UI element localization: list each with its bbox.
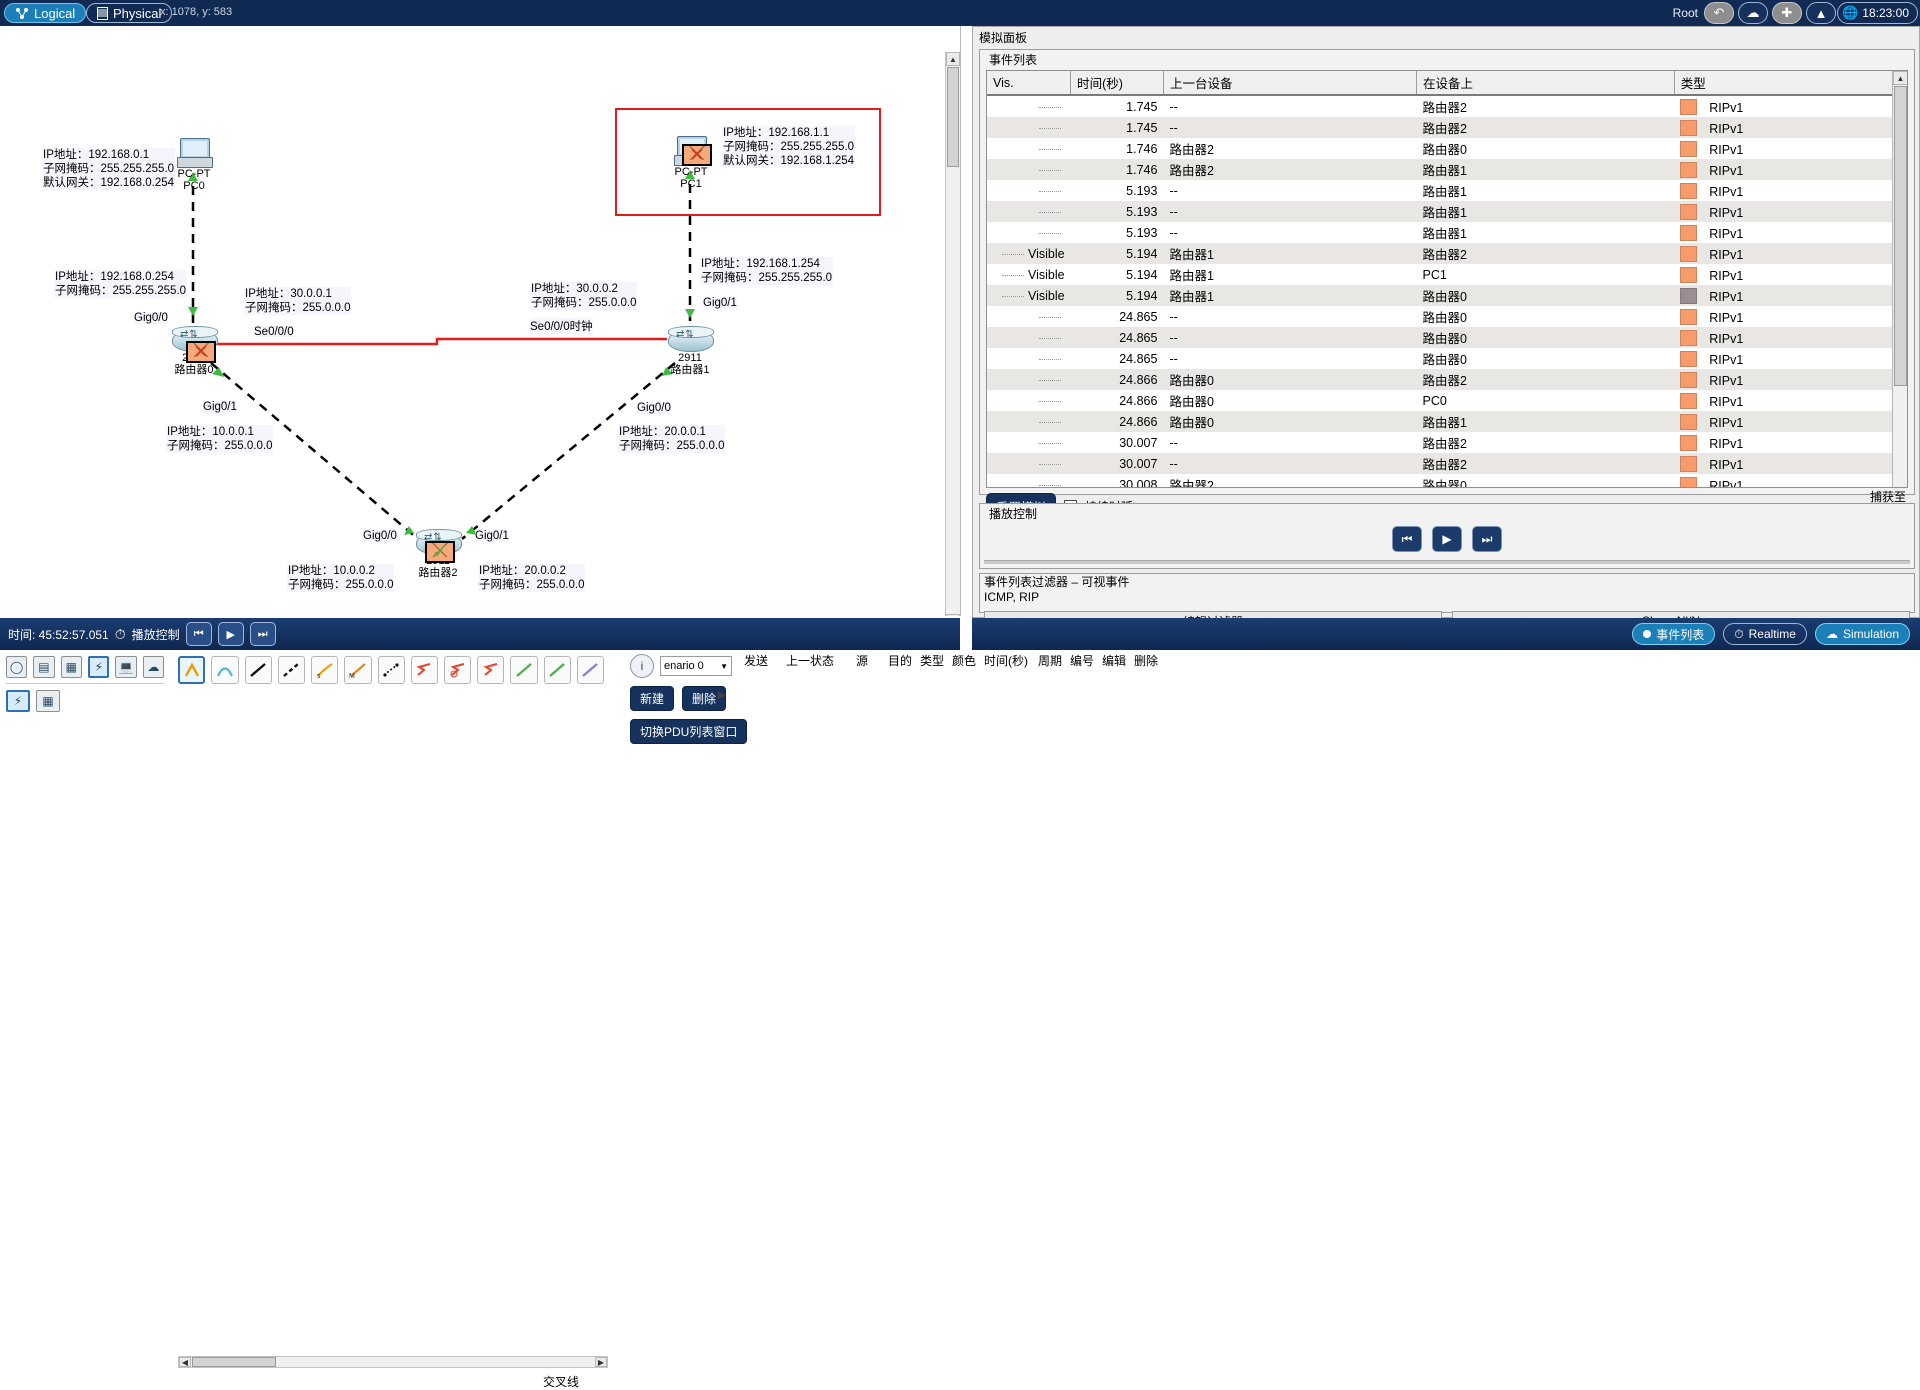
event-list-body: 1.745--路由器2RIPv11.745--路由器2RIPv11.746路由器… (987, 95, 1907, 488)
tree-guide-icon (1039, 380, 1061, 381)
label-pc0-config: IP地址：192.168.0.1 子网掩码：255.255.255.0 默认网关… (42, 148, 175, 190)
event-row[interactable]: Visible5.194路由器1路由器2RIPv1 (987, 243, 1907, 264)
event-filter-title: 事件列表过滤器 – 可视事件 (980, 574, 1914, 590)
svg-text:s: s (317, 673, 321, 679)
label-router1-lan-ip: IP地址：192.168.1.254 (701, 257, 832, 271)
event-vis-cell (987, 306, 1071, 327)
event-list-toggle-label: 事件列表 (1656, 626, 1704, 643)
pdu-col-color: 颜色 (952, 652, 984, 669)
device-model-picker: s M ◀ ▶ 交叉线 (170, 650, 613, 744)
event-time-cell: 5.194 (1071, 264, 1164, 285)
label-router0-gig01-ip: IP地址：10.0.0.1 (167, 425, 272, 439)
event-last-device-cell: 路由器0 (1163, 369, 1416, 390)
col-last-device[interactable]: 上一台设备 (1163, 71, 1416, 95)
scenario-row: i enario 0 ▼ (630, 654, 740, 678)
device-type-row-1: ◯ ▤ ▦ ⚡ 💻 ☁ (0, 650, 170, 678)
pdu-panel: i enario 0 ▼ 新建 删除 切换PDU列表窗口 ▶ 发送 上一状态 源… (612, 650, 1920, 744)
serial-dce-cable-icon[interactable] (411, 656, 438, 684)
event-row[interactable]: 24.866路由器0路由器1RIPv1 (987, 411, 1907, 432)
play-speed-slider[interactable] (984, 560, 1910, 564)
auto-capture-play-button[interactable]: ▶ (1432, 526, 1462, 552)
wan-emulation-category-icon[interactable]: ☁ (143, 656, 164, 678)
event-last-device-cell: -- (1163, 327, 1416, 348)
label-serial-a: IP地址：30.0.0.1 子网掩码：255.0.0.0 (244, 287, 351, 315)
event-at-device-cell: 路由器0 (1417, 348, 1675, 369)
event-time-cell: 5.193 (1071, 180, 1164, 201)
info-icon[interactable]: i (630, 654, 654, 678)
event-last-device-cell: -- (1163, 180, 1416, 201)
event-last-device-cell: 路由器2 (1163, 138, 1416, 159)
pdu-col-edit: 编辑 (1102, 652, 1134, 669)
event-at-device-cell: 路由器2 (1417, 95, 1675, 117)
playbar-skip-forward-button[interactable]: ⏭ (250, 622, 276, 646)
event-last-device-cell: -- (1163, 117, 1416, 138)
hubs-category-icon[interactable]: ▦ (61, 656, 82, 678)
octal-cable-icon[interactable] (477, 656, 504, 684)
event-at-device-cell: 路由器0 (1417, 327, 1675, 348)
event-type-cell: RIPv1 (1674, 264, 1906, 285)
event-type-cell: RIPv1 (1674, 432, 1906, 453)
device-pc1-caption: PC-PT PC1 (665, 166, 717, 190)
tree-guide-icon (1039, 170, 1061, 171)
tree-guide-icon (1039, 359, 1061, 360)
label-router2-gig01-mask: 子网掩码：255.0.0.0 (479, 578, 584, 592)
event-vis-cell (987, 390, 1071, 411)
globe-clock-icon: 🌐 (1842, 5, 1858, 21)
event-time-cell: 24.866 (1071, 390, 1164, 411)
device-router2-name: 路由器2 (418, 567, 457, 579)
event-list-title: 事件列表 (986, 51, 1040, 68)
col-at-device[interactable]: 在设备上 (1417, 71, 1675, 95)
device-router1[interactable]: ⇄⇅ 2911 路由器1 (666, 326, 714, 376)
tab-logical[interactable]: Logical (4, 3, 86, 23)
mode-bar: 事件列表 ⏱ Realtime ☁ Simulation (972, 618, 1920, 650)
label-serial-b: IP地址：30.0.0.2 子网掩码：255.0.0.0 (530, 282, 637, 310)
event-type-cell: RIPv1 (1674, 348, 1906, 369)
pc-icon (177, 138, 211, 168)
event-color-swatch (1680, 456, 1697, 472)
cable-type-grid: s M (170, 650, 612, 684)
label-pc1-mask: 子网掩码：255.255.255.0 (723, 140, 854, 154)
event-type-cell: RIPv1 (1674, 180, 1906, 201)
tab-logical-label: Logical (34, 6, 75, 21)
simulation-panel-title-bar: 模拟面板 (973, 27, 1919, 45)
event-color-swatch (1680, 204, 1697, 220)
label-pc0-ip: IP地址：192.168.0.1 (43, 148, 174, 162)
event-last-device-cell: -- (1163, 95, 1416, 117)
pdu-table-header: 发送 上一状态 源 目的 类型 颜色 时间(秒) 周期 编号 编辑 删除 (738, 652, 1920, 669)
event-time-cell: 30.007 (1071, 453, 1164, 474)
event-time-cell: 1.745 (1071, 95, 1164, 117)
event-vis-cell: Visible (987, 285, 1071, 306)
event-last-device-cell: 路由器2 (1163, 159, 1416, 180)
event-color-swatch (1680, 99, 1697, 115)
copper-crossover-cable-icon[interactable] (278, 656, 305, 684)
tree-guide-icon (1039, 149, 1061, 150)
packet-envelope-router2[interactable] (425, 541, 455, 563)
event-vis-cell (987, 138, 1071, 159)
device-type-toolbox: ◯ ▤ ▦ ⚡ 💻 ☁ ⚡ ▦ (0, 650, 171, 744)
event-list-header-row: Vis. 时间(秒) 上一台设备 在设备上 类型 (987, 71, 1907, 95)
event-list-toggle[interactable]: 事件列表 (1632, 623, 1715, 645)
event-vis-cell (987, 117, 1071, 138)
label-router2-gig00: IP地址：10.0.0.2 子网掩码：255.0.0.0 (287, 564, 394, 592)
event-vis-cell (987, 159, 1071, 180)
device-pc0[interactable]: PC-PT PC0 (168, 138, 220, 192)
label-pc1-ip: IP地址：192.168.1.1 (723, 126, 854, 140)
col-vis[interactable]: Vis. (987, 71, 1071, 95)
label-pc0-gateway: 默认网关：192.168.0.254 (43, 176, 174, 190)
label-router0-lan-ip: IP地址：192.168.0.254 (55, 270, 186, 284)
event-row[interactable]: 5.193--路由器1RIPv1 (987, 180, 1907, 201)
top-toolbar: Logical Physical x: 1078, y: 583 Root ↶ … (0, 0, 1920, 26)
event-color-swatch (1680, 120, 1697, 136)
event-list-icon (1643, 630, 1651, 638)
router-icon: ⇄⇅ (668, 326, 712, 352)
serial-dte-cable-icon[interactable] (444, 656, 471, 684)
tab-physical-label: Physical (113, 6, 161, 21)
event-time-cell: 5.194 (1071, 285, 1164, 306)
label-pc1-config: IP地址：192.168.1.1 子网掩码：255.255.255.0 默认网关… (722, 126, 855, 168)
end-devices-category-icon[interactable]: 💻 (115, 656, 136, 678)
logical-view-icon (15, 7, 29, 19)
event-type-cell: RIPv1 (1674, 117, 1906, 138)
usb-cable-icon[interactable] (544, 656, 571, 684)
event-color-swatch (1680, 414, 1697, 430)
device-pc0-name: PC0 (183, 180, 204, 192)
event-vis-cell (987, 348, 1071, 369)
logical-workspace[interactable]: PC-PT PC0 PC-PT PC1 ⇄⇅ 2911 路由器0 (0, 26, 961, 616)
packet-tracer-window: Logical Physical x: 1078, y: 583 Root ↶ … (0, 0, 1920, 904)
event-row[interactable]: Visible5.194路由器1PC1RIPv1 (987, 264, 1907, 285)
event-color-swatch (1680, 246, 1697, 262)
event-row[interactable]: 30.007--路由器2RIPv1 (987, 432, 1907, 453)
label-router1-lan-mask: 子网掩码：255.255.255.0 (701, 271, 832, 285)
event-last-device-cell: -- (1163, 222, 1416, 243)
event-color-swatch (1680, 477, 1697, 489)
event-time-cell: 1.745 (1071, 117, 1164, 138)
event-list-table-container[interactable]: Vis. 时间(秒) 上一台设备 在设备上 类型 1.745--路由器2RIPv… (986, 70, 1908, 488)
label-router1-gig00-mask: 子网掩码：255.0.0.0 (619, 439, 724, 453)
label-serial-b-mask: 子网掩码：255.0.0.0 (531, 296, 636, 310)
event-vis-cell (987, 222, 1071, 243)
label-serial-b-ip: IP地址：30.0.0.2 (531, 282, 636, 296)
playbar-skip-back-button[interactable]: ⏮ (186, 622, 212, 646)
label-router0-gig01: IP地址：10.0.0.1 子网掩码：255.0.0.0 (166, 425, 273, 453)
pdu-col-delete: 删除 (1134, 652, 1166, 669)
event-at-device-cell: 路由器0 (1417, 285, 1675, 306)
label-pc1-gateway: 默认网关：192.168.1.254 (723, 154, 854, 168)
label-router1-gig00: IP地址：20.0.0.1 子网掩码：255.0.0.0 (618, 425, 725, 453)
expand-arrow-icon[interactable]: ▶ (718, 690, 726, 701)
cloud-plus-icon[interactable]: ☁ (1738, 2, 1768, 24)
playbar-play-control-label: 播放控制 (132, 626, 180, 643)
tree-guide-icon (1039, 107, 1061, 108)
event-last-device-cell: 路由器1 (1163, 243, 1416, 264)
label-serial-a-ip: IP地址：30.0.0.1 (245, 287, 350, 301)
event-time-cell: 24.865 (1071, 327, 1164, 348)
packet-envelope-router0[interactable] (186, 341, 216, 363)
event-color-swatch (1680, 225, 1697, 241)
pdu-col-fire: 发送 (744, 652, 786, 669)
event-at-device-cell: 路由器1 (1417, 201, 1675, 222)
event-vis-cell (987, 411, 1071, 432)
pdu-col-laststatus: 上一状态 (786, 652, 856, 669)
event-color-swatch (1680, 309, 1697, 325)
event-vis-cell (987, 201, 1071, 222)
tree-guide-icon (1039, 212, 1061, 213)
clock-value: 18:23:00 (1862, 6, 1909, 20)
event-list-table: Vis. 时间(秒) 上一台设备 在设备上 类型 1.745--路由器2RIPv… (987, 71, 1907, 488)
event-type-cell: RIPv1 (1674, 138, 1906, 159)
label-router2-gig00-mask: 子网掩码：255.0.0.0 (288, 578, 393, 592)
event-time-cell: 1.746 (1071, 159, 1164, 180)
tree-guide-icon (1002, 275, 1024, 276)
ieee-cable-icon[interactable] (510, 656, 537, 684)
image-icon[interactable]: ▲ (1806, 2, 1836, 24)
tree-guide-icon (1039, 422, 1061, 423)
clock-icon: ⏱ (1734, 627, 1743, 642)
event-color-swatch (1680, 330, 1697, 346)
event-vis-cell (987, 95, 1071, 117)
event-vis-cell (987, 432, 1071, 453)
event-row[interactable]: 1.746路由器2路由器0RIPv1 (987, 138, 1907, 159)
device-pc0-model: PC-PT (168, 168, 220, 180)
chevron-down-icon: ▼ (720, 662, 728, 671)
event-type-cell: RIPv1 (1674, 306, 1906, 327)
tree-guide-icon (1002, 254, 1024, 255)
iflabel-router2-gig00: Gig0/0 (363, 530, 397, 542)
switches-category-icon[interactable]: ▤ (33, 656, 54, 678)
event-filter-group: 事件列表过滤器 – 可视事件 ICMP, RIP 编辑过滤器 Show All/… (979, 573, 1915, 613)
event-row[interactable]: 24.865--路由器0RIPv1 (987, 327, 1907, 348)
col-type[interactable]: 类型 (1674, 71, 1906, 95)
label-router2-gig01-ip: IP地址：20.0.0.2 (479, 564, 584, 578)
pdu-col-type: 类型 (920, 652, 952, 669)
phone-cable-icon[interactable]: M (344, 656, 371, 684)
event-last-device-cell: -- (1163, 432, 1416, 453)
cursor-coordinates: x: 1078, y: 583 (160, 6, 232, 18)
iflabel-router1-gig00: Gig0/0 (637, 402, 671, 414)
event-type-cell: RIPv1 (1674, 222, 1906, 243)
pdu-col-time: 时间(秒) (984, 652, 1038, 669)
event-row[interactable]: 24.866路由器0路由器2RIPv1 (987, 369, 1907, 390)
event-row[interactable]: 5.193--路由器1RIPv1 (987, 201, 1907, 222)
globe-clock-button[interactable]: 🌐 18:23:00 (1837, 2, 1918, 24)
event-list-group: 事件列表 Vis. 时间(秒) 上一台设备 在设备上 类型 (979, 49, 1915, 495)
label-router1-lan: IP地址：192.168.1.254 子网掩码：255.255.255.0 (700, 257, 833, 285)
event-row[interactable]: 5.193--路由器1RIPv1 (987, 222, 1907, 243)
event-at-device-cell: 路由器1 (1417, 222, 1675, 243)
model-picker-scrollbar[interactable]: ◀ ▶ (178, 1356, 608, 1368)
pdu-col-dest: 目的 (888, 652, 920, 669)
event-time-cell: 30.007 (1071, 432, 1164, 453)
event-at-device-cell: 路由器1 (1417, 180, 1675, 201)
event-list-scrollbar[interactable]: ▲ (1892, 71, 1907, 487)
multiuser-connection-icon[interactable]: ▦ (36, 690, 60, 712)
playbar-play-button[interactable]: ▶ (218, 622, 244, 646)
tree-guide-icon (1039, 443, 1061, 444)
event-type-cell: RIPv1 (1674, 159, 1906, 180)
sim-time-label: 时间: 45:52:57.051 (8, 626, 109, 643)
iflabel-router0-se000: Se0/0/0 (254, 326, 294, 338)
label-router1-gig00-ip: IP地址：20.0.0.1 (619, 425, 724, 439)
simulation-panel-title: 模拟面板 (979, 29, 1027, 46)
event-vis-cell (987, 369, 1071, 390)
event-row[interactable]: 1.745--路由器2RIPv1 (987, 95, 1907, 117)
workspace-vertical-scrollbar[interactable]: ▲ ▼ (945, 52, 960, 616)
iflabel-router1-se000: Se0/0/0时钟 (530, 318, 593, 334)
event-type-cell: RIPv1 (1674, 474, 1906, 488)
event-last-device-cell: 路由器0 (1163, 390, 1416, 411)
event-at-device-cell: PC0 (1417, 390, 1675, 411)
pdu-list-table: 发送 上一状态 源 目的 类型 颜色 时间(秒) 周期 编号 编辑 删除 (738, 652, 1920, 669)
event-type-cell: RIPv1 (1674, 369, 1906, 390)
device-router1-name: 路由器1 (670, 364, 709, 376)
tree-guide-icon (1039, 233, 1061, 234)
event-at-device-cell: 路由器0 (1417, 306, 1675, 327)
routers-category-icon[interactable]: ◯ (6, 656, 27, 678)
event-row[interactable]: 1.746路由器2路由器1RIPv1 (987, 159, 1907, 180)
iflabel-router0-gig01: Gig0/1 (203, 401, 237, 413)
tree-guide-icon (1039, 401, 1061, 402)
device-router1-model: 2911 (666, 352, 714, 364)
tree-guide-icon (1039, 485, 1061, 486)
event-time-cell: 30.008 (1071, 474, 1164, 488)
event-last-device-cell: 路由器2 (1163, 474, 1416, 488)
physical-view-icon (97, 7, 108, 20)
simulation-mode-button[interactable]: ☁ Simulation (1815, 623, 1910, 645)
iflabel-router0-gig00: Gig0/0 (134, 312, 168, 324)
event-at-device-cell: 路由器2 (1417, 453, 1675, 474)
event-color-swatch (1680, 351, 1697, 367)
device-pc1-name: PC1 (680, 178, 701, 190)
play-controls-group: 播放控制 ⏮ ▶ ⏭ (979, 503, 1915, 569)
event-time-cell: 24.866 (1071, 411, 1164, 432)
copper-straight-cable-icon[interactable] (245, 656, 272, 684)
play-control-buttons: ⏮ ▶ ⏭ (980, 526, 1914, 552)
simulation-playbar: 时间: 45:52:57.051 ⏱ 播放控制 ⏮ ▶ ⏭ (0, 618, 960, 650)
event-vis-cell (987, 180, 1071, 201)
event-at-device-cell: 路由器1 (1417, 411, 1675, 432)
connection-type-icon[interactable]: ⚡ (6, 690, 30, 712)
coaxial-cable-icon[interactable] (378, 656, 405, 684)
event-at-device-cell: 路由器0 (1417, 474, 1675, 488)
event-color-swatch (1680, 288, 1697, 304)
event-at-device-cell: 路由器2 (1417, 243, 1675, 264)
svg-text:M: M (349, 673, 355, 679)
event-type-cell: RIPv1 (1674, 411, 1906, 432)
move-icon[interactable]: ✚ (1772, 2, 1802, 24)
play-controls-title: 播放控制 (986, 505, 1040, 522)
iflabel-router1-gig01: Gig0/1 (703, 297, 737, 309)
auto-cable-icon[interactable] (178, 656, 205, 684)
label-serial-a-mask: 子网掩码：255.0.0.0 (245, 301, 350, 315)
event-color-swatch (1680, 393, 1697, 409)
tree-guide-icon (1039, 191, 1061, 192)
realtime-mode-button[interactable]: ⏱ Realtime (1723, 623, 1807, 645)
new-scenario-button[interactable]: 新建 (630, 686, 674, 711)
event-time-cell: 1.746 (1071, 138, 1164, 159)
event-color-swatch (1680, 435, 1697, 451)
device-router0-name: 路由器0 (174, 364, 213, 376)
event-type-cell: RIPv1 (1674, 95, 1906, 117)
simulation-panel: 模拟面板 事件列表 Vis. 时间(秒) 上一台设备 在设备上 (972, 26, 1920, 618)
tree-guide-icon (1002, 296, 1024, 297)
event-row[interactable]: 30.008路由器2路由器0RIPv1 (987, 474, 1907, 488)
label-router2-gig01: IP地址：20.0.0.2 子网掩码：255.0.0.0 (478, 564, 585, 592)
scenario-select[interactable]: enario 0 ▼ (660, 656, 732, 676)
label-router2-gig00-ip: IP地址：10.0.0.2 (288, 564, 393, 578)
event-vis-cell: Visible (987, 243, 1071, 264)
wireless-cable-icon[interactable] (577, 656, 604, 684)
fiber-cable-icon[interactable]: s (311, 656, 338, 684)
capture-forward-button[interactable]: ⏭ (1472, 526, 1502, 552)
event-at-device-cell: 路由器2 (1417, 117, 1675, 138)
label-router0-lan-mask: 子网掩码：255.255.255.0 (55, 284, 186, 298)
event-time-cell: 5.193 (1071, 201, 1164, 222)
tree-guide-icon (1039, 464, 1061, 465)
event-color-swatch (1680, 183, 1697, 199)
event-color-swatch (1680, 141, 1697, 157)
tree-guide-icon (1039, 128, 1061, 129)
connections-category-icon[interactable]: ⚡ (88, 656, 110, 678)
event-type-cell: RIPv1 (1674, 285, 1906, 306)
event-color-swatch (1680, 162, 1697, 178)
event-vis-cell (987, 474, 1071, 488)
packet-envelope-pc1[interactable] (682, 144, 712, 166)
device-pc1-model: PC-PT (665, 166, 717, 178)
selected-cable-caption: 交叉线 (340, 1373, 782, 1390)
event-type-cell: RIPv1 (1674, 453, 1906, 474)
event-at-device-cell: PC1 (1417, 264, 1675, 285)
event-row[interactable]: 24.866路由器0PC0RIPv1 (987, 390, 1907, 411)
back-button[interactable]: ⏮ (1392, 526, 1422, 552)
tree-guide-icon (1039, 317, 1061, 318)
tree-guide-icon (1039, 338, 1061, 339)
event-time-cell: 24.865 (1071, 306, 1164, 327)
console-cable-icon[interactable] (211, 656, 238, 684)
event-color-swatch (1680, 372, 1697, 388)
event-last-device-cell: 路由器1 (1163, 285, 1416, 306)
event-last-device-cell: 路由器1 (1163, 264, 1416, 285)
event-at-device-cell: 路由器0 (1417, 138, 1675, 159)
event-type-cell: RIPv1 (1674, 327, 1906, 348)
event-time-cell: 24.866 (1071, 369, 1164, 390)
event-time-cell: 5.193 (1071, 222, 1164, 243)
event-type-cell: RIPv1 (1674, 243, 1906, 264)
col-time[interactable]: 时间(秒) (1071, 71, 1164, 95)
event-row[interactable]: 1.745--路由器2RIPv1 (987, 117, 1907, 138)
pdu-col-periodic: 周期 (1038, 652, 1070, 669)
event-row[interactable]: 24.865--路由器0RIPv1 (987, 306, 1907, 327)
label-router0-gig01-mask: 子网掩码：255.0.0.0 (167, 439, 272, 453)
iflabel-router2-gig01: Gig0/1 (475, 530, 509, 542)
back-arrow-icon[interactable]: ↶ (1704, 2, 1734, 24)
event-last-device-cell: -- (1163, 306, 1416, 327)
event-at-device-cell: 路由器1 (1417, 159, 1675, 180)
event-last-device-cell: -- (1163, 453, 1416, 474)
event-at-device-cell: 路由器2 (1417, 432, 1675, 453)
event-row[interactable]: 30.007--路由器2RIPv1 (987, 453, 1907, 474)
pdu-col-num: 编号 (1070, 652, 1102, 669)
stopwatch-icon[interactable]: ⏱ (115, 626, 126, 643)
toggle-pdu-list-window-button[interactable]: 切换PDU列表窗口 (630, 719, 747, 744)
event-row[interactable]: 24.865--路由器0RIPv1 (987, 348, 1907, 369)
event-row[interactable]: Visible5.194路由器1路由器0RIPv1 (987, 285, 1907, 306)
realtime-mode-label: Realtime (1749, 627, 1796, 641)
event-last-device-cell: 路由器0 (1163, 411, 1416, 432)
